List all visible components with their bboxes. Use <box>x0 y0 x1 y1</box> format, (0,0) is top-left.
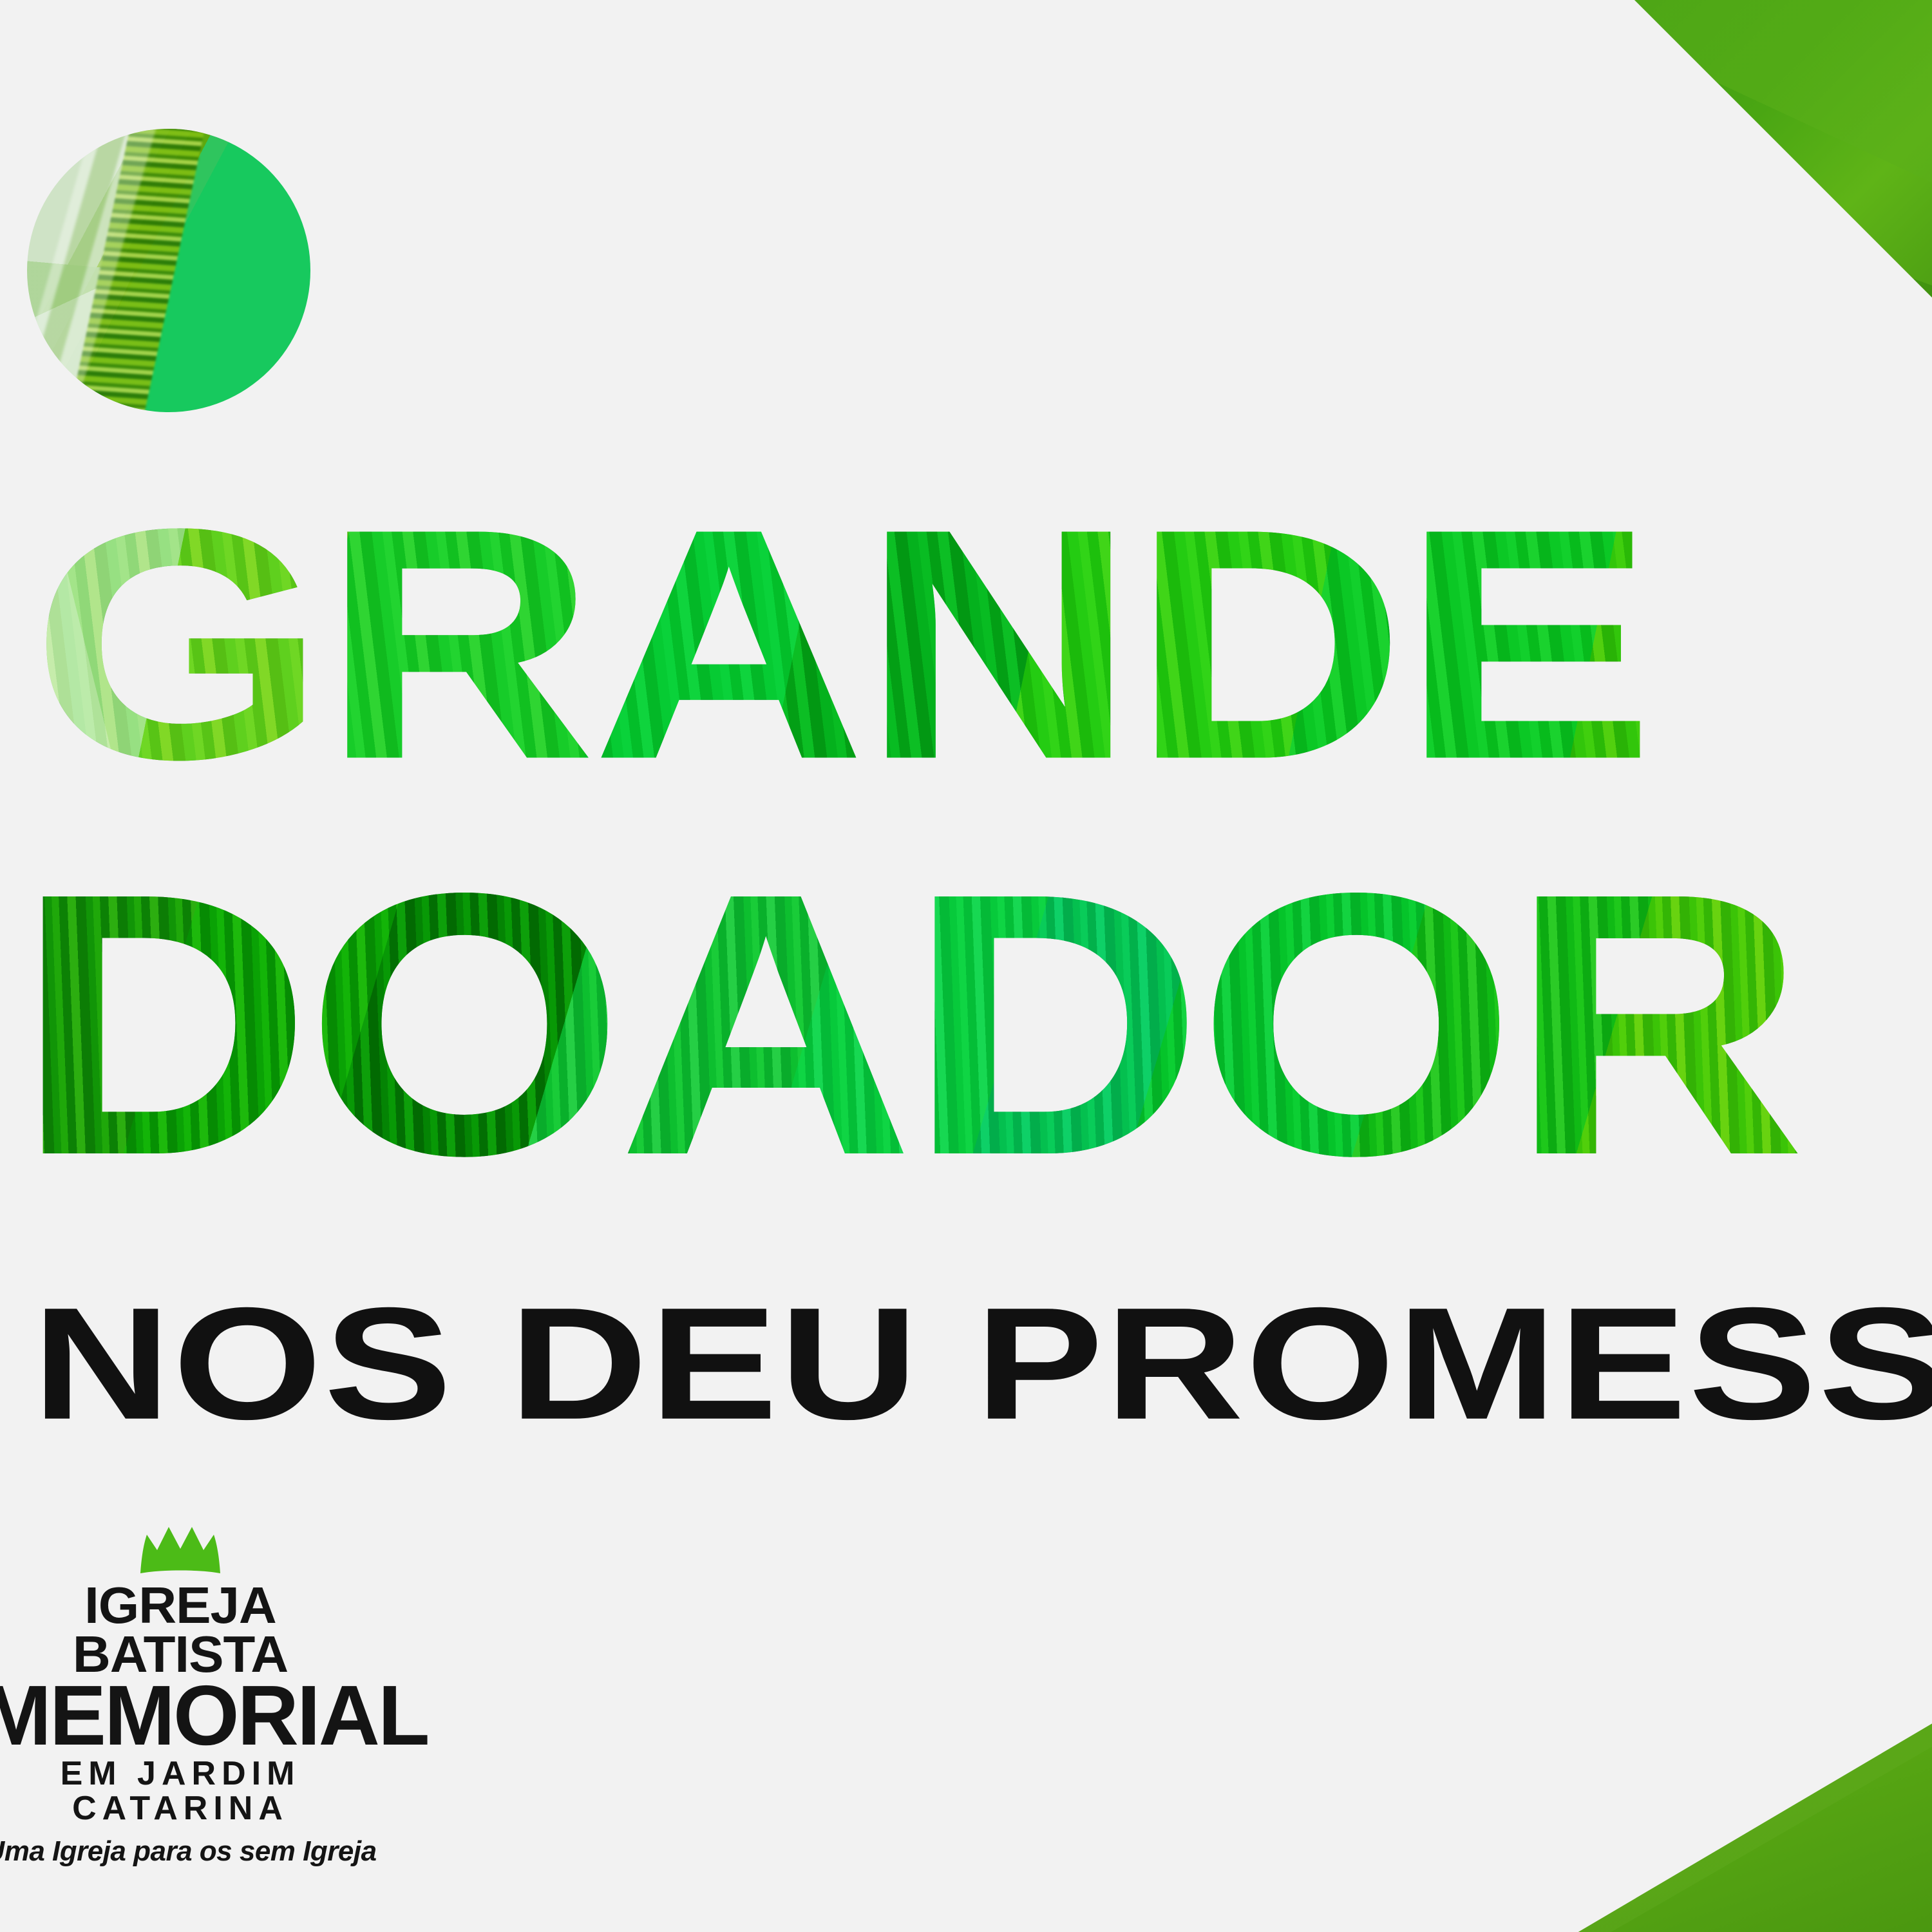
church-logo: IGREJA BATISTA MEMORIAL EM JARDIM CATARI… <box>0 1520 380 1868</box>
headline-word-grande: GRANDE <box>31 480 1932 808</box>
crown-icon <box>135 1520 225 1578</box>
logo-line-igreja-batista: IGREJA BATISTA <box>0 1581 384 1679</box>
poster-canvas: GRANDE DOADOR NOS DEU PROMESSAS. IGREJA … <box>0 0 1932 1932</box>
logo-tagline: Uma Igreja para os sem Igreja <box>0 1835 380 1868</box>
headline-subline: NOS DEU PROMESSAS. <box>32 1272 1932 1456</box>
logo-line-em-jardim-catarina: EM JARDIM CATARINA <box>0 1756 380 1826</box>
logo-line-memorial: MEMORIAL <box>0 1676 380 1754</box>
letter-o-photo-disc <box>27 129 310 412</box>
headline-word-doador: DOADOR <box>15 837 1932 1211</box>
